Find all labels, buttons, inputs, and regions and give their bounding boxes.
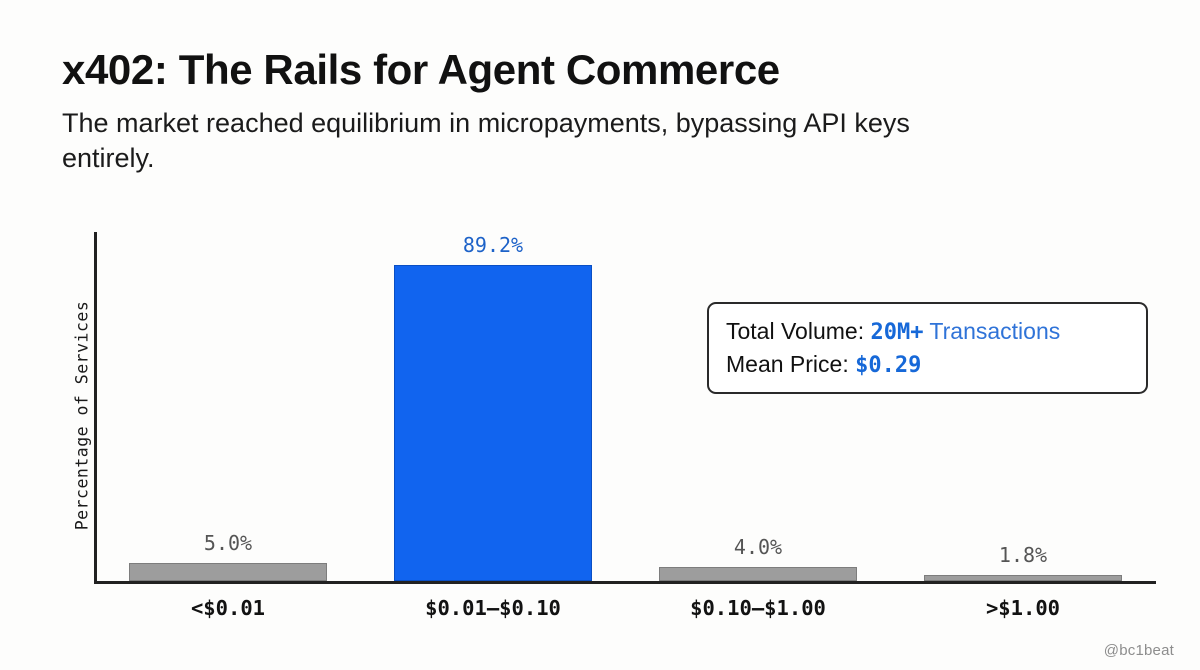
- bar-value-label: 89.2%: [394, 233, 592, 257]
- x-tick-label: $0.10–$1.00: [659, 596, 857, 620]
- bar-value-label: 5.0%: [129, 531, 327, 555]
- total-volume-row: Total Volume: 20M+ Transactions: [726, 315, 1146, 348]
- summary-stats-box: Total Volume: 20M+ Transactions Mean Pri…: [707, 302, 1148, 394]
- mean-price-row: Mean Price: $0.29: [726, 348, 1146, 381]
- bar[interactable]: [129, 563, 327, 581]
- bar[interactable]: [659, 567, 857, 581]
- bar-value-label: 1.8%: [924, 543, 1122, 567]
- total-volume-suffix: Transactions: [923, 318, 1060, 344]
- total-volume-value: 20M+: [870, 320, 923, 345]
- watermark: @bc1beat: [1104, 642, 1174, 659]
- x-axis-line: [94, 581, 1156, 584]
- bar[interactable]: [924, 575, 1122, 581]
- mean-price-value: $0.29: [855, 353, 921, 378]
- x-tick-label: >$1.00: [924, 596, 1122, 620]
- y-axis-label: Percentage of Services: [73, 286, 92, 546]
- slide-canvas: x402: The Rails for Agent Commerce The m…: [0, 0, 1200, 670]
- y-axis-line: [94, 232, 97, 584]
- bar[interactable]: [394, 265, 592, 581]
- bar-value-label: 4.0%: [659, 535, 857, 559]
- x-tick-label: $0.01–$0.10: [394, 596, 592, 620]
- x-tick-label: <$0.01: [129, 596, 327, 620]
- total-volume-label: Total Volume:: [726, 318, 870, 344]
- mean-price-label: Mean Price:: [726, 351, 855, 377]
